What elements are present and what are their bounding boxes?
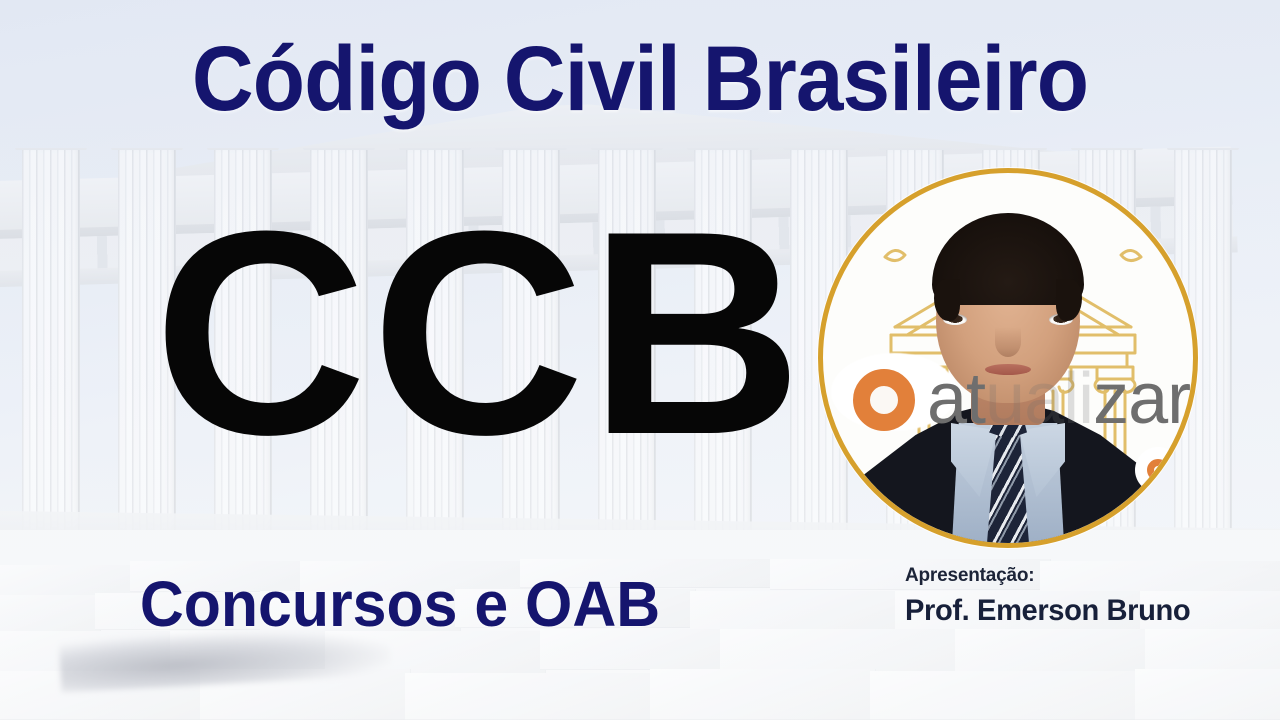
avatar-gold-ring: atualizar bbox=[818, 168, 1198, 548]
nose bbox=[995, 327, 1021, 357]
presenter-figure bbox=[843, 188, 1173, 543]
avatar: atualizar bbox=[818, 168, 1198, 548]
presenter-photo bbox=[823, 173, 1193, 543]
acronym-heading: CCB bbox=[133, 196, 827, 472]
subtitle-heading: Concursos e OAB bbox=[20, 572, 780, 636]
video-title-slide: Código Civil Brasileiro CCB Concursos e … bbox=[0, 0, 1280, 720]
hair bbox=[932, 213, 1084, 305]
presenter-name: Prof. Emerson Bruno bbox=[905, 594, 1245, 628]
presenter-label: Apresentação: bbox=[905, 565, 1255, 587]
mouth bbox=[985, 364, 1031, 375]
presenter-block: Apresentação: Prof. Emerson Bruno bbox=[905, 565, 1255, 628]
page-title: Código Civil Brasileiro bbox=[45, 33, 1235, 125]
